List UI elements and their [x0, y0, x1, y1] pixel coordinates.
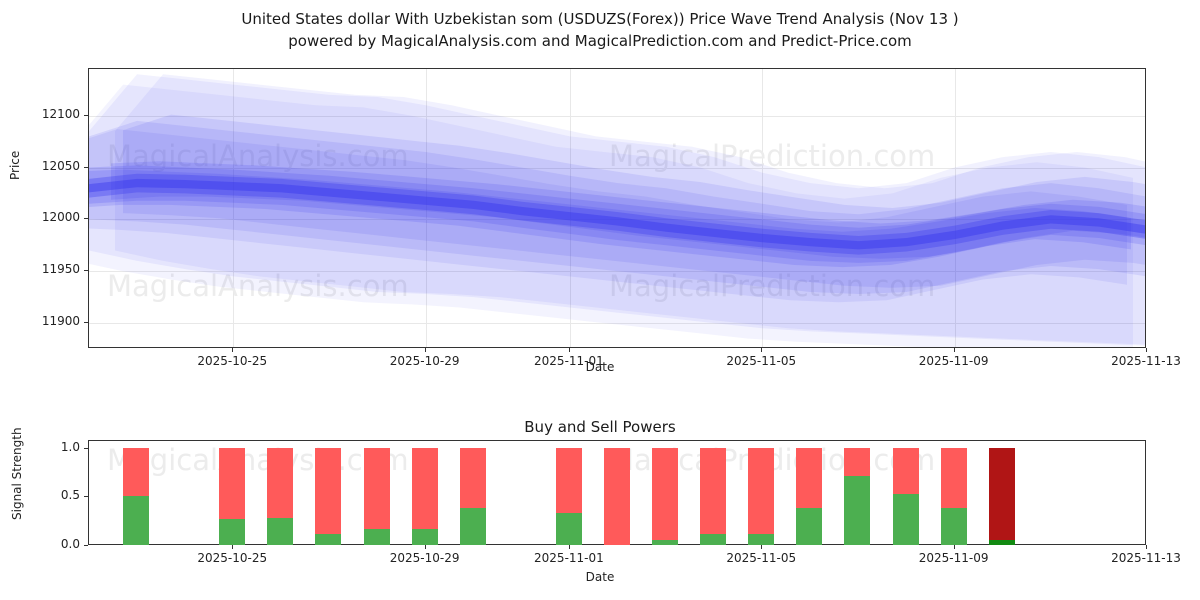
power-x-tick-label: 2025-11-09 — [899, 551, 1009, 565]
power-y-tick-label: 0.5 — [10, 488, 80, 502]
sell-power-bar — [941, 448, 967, 508]
sell-power-bar — [604, 448, 630, 545]
buy-power-bar — [652, 540, 678, 545]
wave-y-tick-label: 11900 — [10, 314, 80, 328]
wave-x-tick-label: 2025-10-25 — [177, 354, 287, 368]
sell-power-bar — [893, 448, 919, 494]
wave-plot-area: MagicalAnalysis.comMagicalPrediction.com… — [89, 69, 1145, 347]
power-y-tick-label: 0.0 — [10, 537, 80, 551]
wave-bands — [89, 69, 1146, 348]
power-x-tick-mark — [954, 545, 955, 549]
wave-y-tick-label: 12100 — [10, 107, 80, 121]
wave-x-tick-label: 2025-11-01 — [514, 354, 624, 368]
power-x-tick-mark — [1146, 545, 1147, 549]
wave-x-tick-label: 2025-11-09 — [899, 354, 1009, 368]
buy-power-bar — [556, 513, 582, 545]
buy-power-bar — [364, 529, 390, 545]
power-x-tick-mark — [761, 545, 762, 549]
buy-power-bar — [700, 534, 726, 545]
buy-power-bar — [460, 508, 486, 545]
wave-x-tick-mark — [232, 348, 233, 352]
buy-power-bar — [941, 508, 967, 545]
title-line-1: United States dollar With Uzbekistan som… — [0, 8, 1200, 30]
buy-power-bar — [267, 518, 293, 545]
buy-power-bar — [315, 534, 341, 545]
chart-page: United States dollar With Uzbekistan som… — [0, 0, 1200, 600]
buy-power-bar — [844, 476, 870, 545]
buy-power-bar — [989, 540, 1015, 545]
power-x-tick-label: 2025-11-13 — [1091, 551, 1200, 565]
wave-x-tick-mark — [954, 348, 955, 352]
sell-power-bar — [989, 448, 1015, 540]
power-chart-title: Buy and Sell Powers — [0, 418, 1200, 436]
wave-y-tick-mark — [84, 322, 88, 323]
wave-x-tick-label: 2025-10-29 — [370, 354, 480, 368]
sell-power-bar — [364, 448, 390, 529]
power-x-tick-label: 2025-10-25 — [177, 551, 287, 565]
sell-power-bar — [556, 448, 582, 513]
power-y-tick-mark — [84, 448, 88, 449]
wave-y-tick-mark — [84, 167, 88, 168]
price-wave-chart: MagicalAnalysis.comMagicalPrediction.com… — [88, 68, 1146, 348]
wave-x-tick-label: 2025-11-05 — [706, 354, 816, 368]
buy-power-bar — [123, 496, 149, 545]
sell-power-bar — [267, 448, 293, 518]
power-x-tick-label: 2025-10-29 — [370, 551, 480, 565]
power-x-tick-mark — [569, 545, 570, 549]
wave-y-tick-mark — [84, 218, 88, 219]
sell-power-bar — [412, 448, 438, 529]
wave-x-tick-mark — [1146, 348, 1147, 352]
wave-x-tick-mark — [569, 348, 570, 352]
sell-power-bar — [748, 448, 774, 534]
sell-power-bar — [700, 448, 726, 534]
buy-power-bar — [796, 508, 822, 545]
sell-power-bar — [844, 448, 870, 476]
power-x-tick-mark — [425, 545, 426, 549]
sell-power-bar — [315, 448, 341, 534]
power-x-tick-mark — [232, 545, 233, 549]
power-y-tick-label: 1.0 — [10, 440, 80, 454]
sell-power-bar — [796, 448, 822, 508]
sell-power-bar — [219, 448, 245, 519]
buy-power-bar — [748, 534, 774, 545]
wave-x-tick-mark — [425, 348, 426, 352]
wave-y-tick-mark — [84, 115, 88, 116]
power-y-tick-mark — [84, 496, 88, 497]
power-y-tick-mark — [84, 545, 88, 546]
sell-power-bar — [123, 448, 149, 497]
wave-y-tick-label: 12050 — [10, 159, 80, 173]
buy-power-bar — [219, 519, 245, 545]
title-line-2: powered by MagicalAnalysis.com and Magic… — [0, 30, 1200, 52]
wave-x-tick-mark — [761, 348, 762, 352]
wave-y-tick-label: 12000 — [10, 210, 80, 224]
sell-power-bar — [652, 448, 678, 540]
power-x-tick-label: 2025-11-01 — [514, 551, 624, 565]
wave-y-tick-label: 11950 — [10, 262, 80, 276]
buy-power-bar — [893, 494, 919, 545]
sell-power-bar — [460, 448, 486, 508]
power-x-tick-label: 2025-11-05 — [706, 551, 816, 565]
wave-x-tick-label: 2025-11-13 — [1091, 354, 1200, 368]
wave-y-tick-mark — [84, 270, 88, 271]
buy-power-bar — [412, 529, 438, 545]
power-x-axis-label: Date — [0, 570, 1200, 584]
page-title: United States dollar With Uzbekistan som… — [0, 8, 1200, 52]
